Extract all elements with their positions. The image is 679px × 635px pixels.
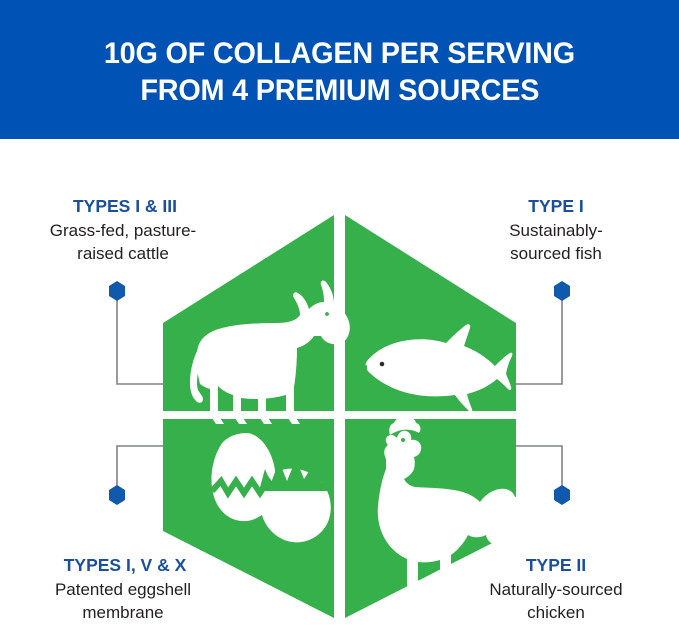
source-desc-cattle-line2: raised cattle — [8, 242, 238, 265]
fish-eye — [380, 362, 385, 367]
cow-eye — [325, 312, 329, 316]
source-desc-fish-line2: sourced fish — [441, 242, 671, 265]
source-desc-chicken-line1: Naturally-sourced — [441, 578, 671, 601]
hex-marker-fish — [554, 281, 570, 301]
hex-marker-chicken — [554, 485, 570, 505]
chicken-eye — [401, 438, 405, 442]
source-desc-eggshell-line1: Patented eggshell — [8, 578, 238, 601]
source-label-cattle: TYPES I & III Grass-fed, pasture- raised… — [8, 195, 238, 265]
source-heading-eggshell: TYPES I, V & X — [8, 554, 238, 577]
source-desc-eggshell-line2: membrane — [8, 601, 238, 624]
sources-diagram: TYPES I & III Grass-fed, pasture- raised… — [0, 139, 679, 630]
banner-headline-line1: 10G OF COLLAGEN PER SERVING — [104, 35, 575, 72]
source-label-eggshell: TYPES I, V & X Patented eggshell membran… — [8, 554, 238, 624]
source-desc-fish-line1: Sustainably- — [441, 219, 671, 242]
banner-headline-line2: FROM 4 PREMIUM SOURCES — [140, 72, 539, 109]
source-label-fish: TYPE I Sustainably- sourced fish — [441, 195, 671, 265]
source-heading-chicken: TYPE II — [441, 554, 671, 577]
hex-marker-eggshell — [109, 485, 125, 505]
source-desc-cattle-line1: Grass-fed, pasture- — [8, 219, 238, 242]
source-desc-chicken-line2: chicken — [441, 601, 671, 624]
source-label-chicken: TYPE II Naturally-sourced chicken — [441, 554, 671, 624]
source-heading-fish: TYPE I — [441, 195, 671, 218]
infographic-page: 10G OF COLLAGEN PER SERVING FROM 4 PREMI… — [0, 0, 679, 630]
source-heading-cattle: TYPES I & III — [8, 195, 238, 218]
hex-marker-cattle — [109, 281, 125, 301]
header-banner: 10G OF COLLAGEN PER SERVING FROM 4 PREMI… — [0, 0, 679, 139]
